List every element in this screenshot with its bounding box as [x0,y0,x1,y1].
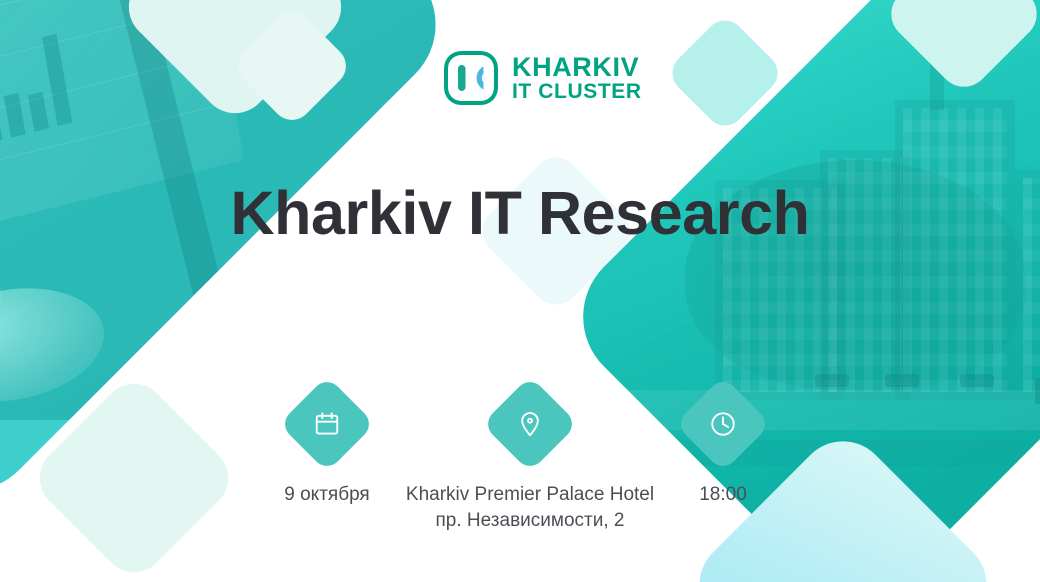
event-time-block: 18:00 [664,390,782,508]
poster-canvas: KHARKIV IT CLUSTER Kharkiv IT Research 9… [0,0,1040,582]
calendar-icon [313,410,341,438]
location-badge [482,376,578,472]
event-venue-text: Kharkiv Premier Palace Hotel пр. Независ… [406,482,654,534]
clock-badge [675,376,771,472]
logo-wordmark: KHARKIV IT CLUSTER [512,54,642,103]
event-time-text: 18:00 [699,482,747,508]
kharkiv-it-cluster-logo-mark [443,50,499,106]
calendar-badge [279,376,375,472]
event-date-block: 9 октября [258,390,396,508]
location-pin-icon [516,410,544,438]
event-date-text: 9 октября [284,482,369,508]
clock-icon [709,410,737,438]
kharkiv-it-cluster-logo[interactable]: KHARKIV IT CLUSTER [443,50,642,106]
event-info-row: 9 октября Kharkiv Premier Palace Hotel п… [258,390,782,534]
logo-line-2: IT CLUSTER [512,81,642,102]
page-title: Kharkiv IT Research [0,178,1040,250]
logo-line-1: KHARKIV [512,54,642,82]
event-venue-block: Kharkiv Premier Palace Hotel пр. Независ… [396,390,664,534]
